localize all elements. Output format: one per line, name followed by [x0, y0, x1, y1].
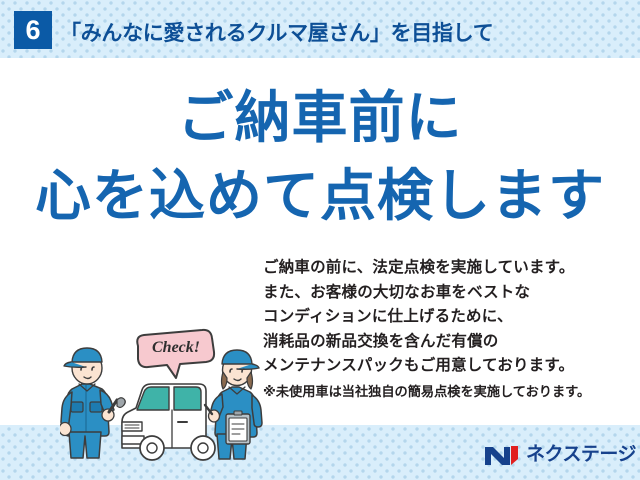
headline-line-2: 心を込めて点検します: [0, 166, 640, 226]
header: 6 「みんなに愛されるクルマ屋さん」を目指して: [0, 0, 640, 58]
promo-banner: 6 「みんなに愛されるクルマ屋さん」を目指して ご納車前に 心を込めて点検します…: [0, 0, 640, 480]
body-line-2: また、お客様の大切なお車をベストな: [263, 281, 625, 306]
brand-logo: ネクステージ: [484, 443, 636, 467]
body-copy: ご納車の前に、法定点検を実施しています。 また、お客様の大切なお車をベストな コ…: [263, 256, 625, 403]
nextage-n-icon: [484, 444, 520, 466]
body-line-3: コンディションに仕上げるために、: [263, 305, 625, 330]
speech-bubble-label: Check!: [152, 339, 200, 356]
body-line-1: ご納車の前に、法定点検を実施しています。: [263, 256, 625, 281]
headline-line-1: ご納車前に: [0, 88, 640, 148]
content-card: ご納車前に 心を込めて点検します ご納車の前に、法定点検を実施しています。 また…: [0, 58, 640, 425]
page-title: 「みんなに愛されるクルマ屋さん」を目指して: [60, 17, 493, 47]
mechanics-illustration: Check!: [60, 326, 265, 461]
illustration-svg: Check!: [60, 326, 265, 461]
brand-name: ネクステージ: [526, 444, 636, 466]
body-line-4: 消耗品の新品交換を含んだ有償の: [263, 330, 625, 355]
van-illustration: [122, 384, 215, 460]
body-note: ※未使用車は当社独自の簡易点検を実施しております。: [263, 381, 625, 403]
section-number-badge: 6: [14, 11, 52, 49]
body-line-5: メンテナンスパックもご用意しております。: [263, 354, 625, 379]
mechanic-left-figure: [60, 348, 125, 458]
